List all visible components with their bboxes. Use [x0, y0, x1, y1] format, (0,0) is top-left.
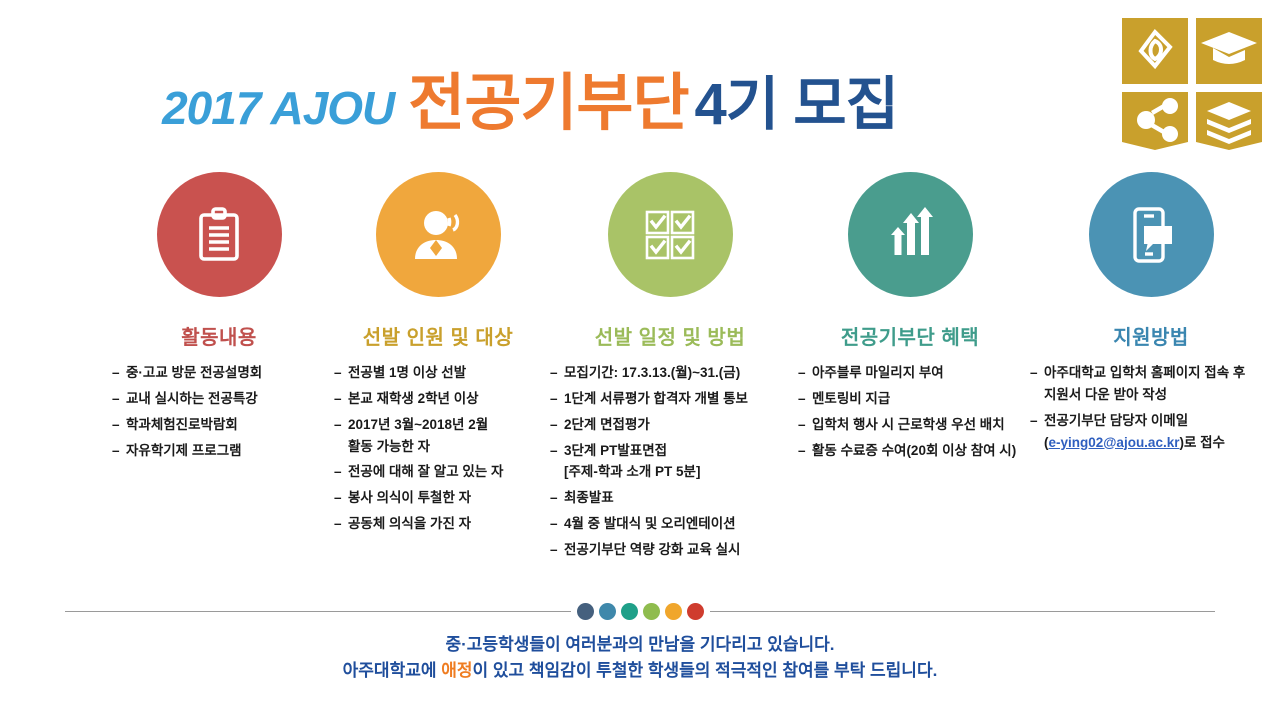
clipboard-icon	[188, 204, 250, 266]
list-item-label: 2017년 3월~2018년 2월	[348, 414, 542, 436]
checklist-grid-icon	[641, 206, 699, 264]
growth-arrows-icon	[877, 205, 943, 265]
list-item-continuation: –[주제-학과 소개 PT 5분]	[550, 461, 790, 483]
list-item-label: 본교 재학생 2학년 이상	[348, 388, 542, 410]
list-item: –1단계 서류평가 합격자 개별 통보	[550, 388, 790, 410]
bullet-dash: –	[334, 388, 348, 410]
bullet-dash: –	[550, 487, 564, 509]
list-item-label: 활동 가능한 자	[348, 436, 542, 458]
list-item: –활동 수료증 수여(20회 이상 참여 시)	[798, 440, 1022, 462]
dot-5	[665, 603, 682, 620]
circle-activity-content	[157, 172, 282, 297]
headset-person-icon	[405, 204, 471, 266]
bullet-dash: –	[112, 388, 126, 410]
list-item-email: – (e-ying02@ajou.ac.kr)로 접수	[1030, 432, 1272, 454]
list-item-label: 전공기부단 담당자 이메일	[1044, 410, 1272, 432]
column-activity-content: 활동내용 –중·고교 방문 전공설명회 –교내 실시하는 전공특강 –학과체험진…	[108, 172, 330, 465]
list-item-label: 학과체험진로박람회	[126, 414, 326, 436]
bullet-dash: –	[334, 461, 348, 483]
dot-4	[643, 603, 660, 620]
bullet-dash: –	[112, 440, 126, 462]
list-item-label: 활동 수료증 수여(20회 이상 참여 시)	[812, 440, 1022, 462]
list-item-label: 공동체 의식을 가진 자	[348, 513, 542, 535]
list-item-label: 아주블루 마일리지 부여	[812, 362, 1022, 384]
list-item: –2017년 3월~2018년 2월	[334, 414, 542, 436]
bullet-dash: –	[550, 362, 564, 384]
email-line: (e-ying02@ajou.ac.kr)로 접수	[1044, 432, 1272, 454]
circle-how-to-apply	[1089, 172, 1214, 297]
bullet-dash: –	[550, 513, 564, 535]
list-item-label: 전공별 1명 이상 선발	[348, 362, 542, 384]
list-item: –전공기부단 역량 강화 교육 실시	[550, 539, 790, 561]
footer-line2-part3: 이 투철한 학생들의 적극적인 참여를 부탁 드립니다.	[576, 661, 938, 680]
list-how-to-apply: –아주대학교 입학처 홈페이지 접속 후 –지원서 다운 받아 작성 –전공기부…	[1030, 362, 1272, 457]
bullet-dash: –	[798, 440, 812, 462]
bullet-dash: –	[1030, 410, 1044, 432]
list-item: –2단계 면접평가	[550, 414, 790, 436]
dot-2	[599, 603, 616, 620]
bullet-dash: –	[112, 414, 126, 436]
column-benefits: 전공기부단 혜택 –아주블루 마일리지 부여 –멘토링비 지급 –입학처 행사 …	[794, 172, 1026, 465]
circle-benefits	[848, 172, 973, 297]
list-item: –멘토링비 지급	[798, 388, 1022, 410]
dot-1	[577, 603, 594, 620]
list-item: –최종발표	[550, 487, 790, 509]
bullet-dash: –	[550, 539, 564, 561]
dot-3	[621, 603, 638, 620]
list-item-label: 3단계 PT발표면접	[564, 440, 790, 462]
bullet-dash: –	[112, 362, 126, 384]
page-title: 2017 AJOU전공기부단4기 모집	[0, 52, 1060, 142]
list-item: –전공에 대해 잘 알고 있는 자	[334, 461, 542, 483]
list-item: –전공기부단 담당자 이메일	[1030, 410, 1272, 432]
ajou-shield-logo	[1118, 14, 1266, 150]
list-item-label: 4월 중 발대식 및 오리엔테이션	[564, 513, 790, 535]
footer-highlight-responsibility: 책임감	[529, 661, 576, 680]
bullet-dash: –	[334, 362, 348, 384]
title-tail: 4기 모집	[694, 72, 897, 137]
list-activity-content: –중·고교 방문 전공설명회 –교내 실시하는 전공특강 –학과체험진로박람회 …	[112, 362, 326, 465]
list-selection-schedule-method: –모집기간: 17.3.13.(월)~31.(금) –1단계 서류평가 합격자 …	[550, 362, 790, 565]
list-item-label: 입학처 행사 시 근로학생 우선 배치	[812, 414, 1022, 436]
divider-with-dots	[65, 600, 1215, 622]
info-columns: 활동내용 –중·고교 방문 전공설명회 –교내 실시하는 전공특강 –학과체험진…	[0, 172, 1280, 565]
dot-6	[687, 603, 704, 620]
list-item-continuation: –지원서 다운 받아 작성	[1030, 384, 1272, 406]
bullet-dash: –	[798, 414, 812, 436]
list-item-label: 자유학기제 프로그램	[126, 440, 326, 462]
list-item: –3단계 PT발표면접	[550, 440, 790, 462]
title-main: 전공기부단	[408, 69, 694, 138]
title-year: 2017 AJOU	[162, 82, 408, 134]
email-suffix: )로 접수	[1179, 435, 1225, 450]
list-item: –입학처 행사 시 근로학생 우선 배치	[798, 414, 1022, 436]
footer-message: 중·고등학생들이 여러분과의 만남을 기다리고 있습니다. 아주대학교에 애정이…	[343, 632, 938, 685]
list-item-label: 1단계 서류평가 합격자 개별 통보	[564, 388, 790, 410]
list-item-label: [주제-학과 소개 PT 5분]	[564, 461, 790, 483]
bullet-dash: –	[334, 487, 348, 509]
heading-selection-count-target: 선발 인원 및 대상	[363, 321, 513, 350]
list-item-label: 봉사 의식이 투철한 자	[348, 487, 542, 509]
list-item: –학과체험진로박람회	[112, 414, 326, 436]
list-item: –본교 재학생 2학년 이상	[334, 388, 542, 410]
bullet-dash: –	[1030, 362, 1044, 384]
footer: 중·고등학생들이 여러분과의 만남을 기다리고 있습니다. 아주대학교에 애정이…	[0, 600, 1280, 685]
list-item: –중·고교 방문 전공설명회	[112, 362, 326, 384]
list-item: –자유학기제 프로그램	[112, 440, 326, 462]
list-item-label: 최종발표	[564, 487, 790, 509]
heading-how-to-apply: 지원방법	[1113, 321, 1189, 350]
list-item-label: 전공기부단 역량 강화 교육 실시	[564, 539, 790, 561]
footer-line-1: 중·고등학생들이 여러분과의 만남을 기다리고 있습니다.	[343, 632, 938, 658]
footer-highlight-affection: 애정	[441, 661, 472, 680]
heading-benefits: 전공기부단 혜택	[841, 321, 979, 350]
list-item-continuation: –활동 가능한 자	[334, 436, 542, 458]
list-item: –전공별 1명 이상 선발	[334, 362, 542, 384]
list-item: –모집기간: 17.3.13.(월)~31.(금)	[550, 362, 790, 384]
bullet-dash: –	[550, 388, 564, 410]
color-dots	[571, 603, 710, 620]
bullet-dash: –	[334, 513, 348, 535]
list-item-label: 아주대학교 입학처 홈페이지 접속 후	[1044, 362, 1272, 384]
list-item: –봉사 의식이 투철한 자	[334, 487, 542, 509]
list-item: –교내 실시하는 전공특강	[112, 388, 326, 410]
column-how-to-apply: 지원방법 –아주대학교 입학처 홈페이지 접속 후 –지원서 다운 받아 작성 …	[1026, 172, 1276, 457]
email-link[interactable]: e-ying02@ajou.ac.kr	[1049, 435, 1180, 450]
mobile-message-icon	[1122, 204, 1180, 266]
bullet-dash: –	[550, 414, 564, 436]
list-item-label: 모집기간: 17.3.13.(월)~31.(금)	[564, 362, 790, 384]
list-item: –아주대학교 입학처 홈페이지 접속 후	[1030, 362, 1272, 384]
bullet-dash: –	[550, 440, 564, 462]
heading-activity-content: 활동내용	[181, 321, 257, 350]
divider-line-left	[65, 611, 571, 612]
list-item-label: 2단계 면접평가	[564, 414, 790, 436]
list-item: –4월 중 발대식 및 오리엔테이션	[550, 513, 790, 535]
bullet-dash: –	[334, 414, 348, 436]
bullet-dash: –	[798, 388, 812, 410]
list-item-label: 지원서 다운 받아 작성	[1044, 384, 1272, 406]
list-item-label: 멘토링비 지급	[812, 388, 1022, 410]
circle-selection-count-target	[376, 172, 501, 297]
list-selection-count-target: –전공별 1명 이상 선발 –본교 재학생 2학년 이상 –2017년 3월~2…	[334, 362, 542, 539]
list-item-label: 전공에 대해 잘 알고 있는 자	[348, 461, 542, 483]
list-benefits: –아주블루 마일리지 부여 –멘토링비 지급 –입학처 행사 시 근로학생 우선…	[798, 362, 1022, 465]
list-item: –아주블루 마일리지 부여	[798, 362, 1022, 384]
divider-line-right	[710, 611, 1216, 612]
column-selection-count-target: 선발 인원 및 대상 –전공별 1명 이상 선발 –본교 재학생 2학년 이상 …	[330, 172, 546, 539]
heading-selection-schedule-method: 선발 일정 및 방법	[595, 321, 745, 350]
footer-line2-part2: 이 있고	[473, 661, 529, 680]
list-item: –공동체 의식을 가진 자	[334, 513, 542, 535]
column-selection-schedule-method: 선발 일정 및 방법 –모집기간: 17.3.13.(월)~31.(금) –1단…	[546, 172, 794, 565]
bullet-dash: –	[798, 362, 812, 384]
footer-line-2: 아주대학교에 애정이 있고 책임감이 투철한 학생들의 적극적인 참여를 부탁 …	[343, 658, 938, 684]
list-item-label: 교내 실시하는 전공특강	[126, 388, 326, 410]
circle-selection-schedule-method	[608, 172, 733, 297]
list-item-label: 중·고교 방문 전공설명회	[126, 362, 326, 384]
footer-line2-part1: 아주대학교에	[343, 661, 442, 680]
